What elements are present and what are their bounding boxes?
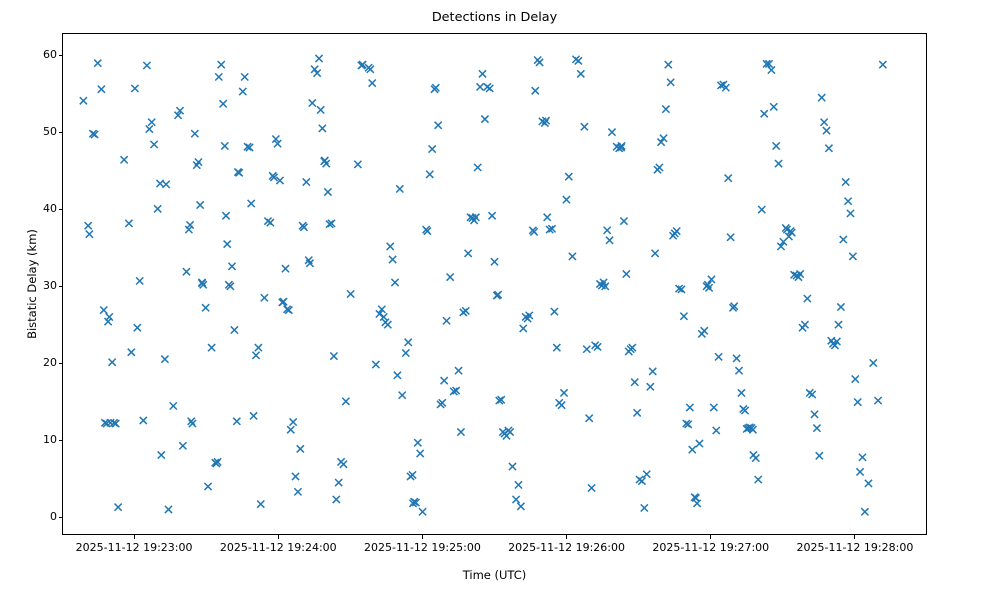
scatter-point bbox=[662, 106, 669, 113]
scatter-point bbox=[484, 83, 491, 90]
scatter-point bbox=[806, 389, 813, 396]
scatter-point bbox=[382, 319, 389, 326]
scatter-point bbox=[691, 494, 698, 501]
scatter-point bbox=[407, 473, 414, 480]
scatter-point bbox=[233, 418, 240, 425]
x-tick-mark bbox=[278, 535, 279, 539]
scatter-point bbox=[170, 402, 177, 409]
scatter-point bbox=[212, 459, 219, 466]
scatter-point bbox=[486, 85, 493, 92]
scatter-point bbox=[520, 325, 527, 332]
scatter-point bbox=[713, 427, 720, 434]
scatter-point bbox=[100, 306, 107, 313]
scatter-point bbox=[692, 494, 699, 501]
scatter-point bbox=[546, 226, 553, 233]
scatter-point bbox=[299, 222, 306, 229]
scatter-point bbox=[323, 160, 330, 167]
scatter-point bbox=[474, 164, 481, 171]
scatter-point bbox=[517, 503, 524, 510]
page-title: Detections in Delay bbox=[62, 10, 927, 25]
x-tick-mark bbox=[422, 535, 423, 539]
scatter-point bbox=[768, 66, 775, 73]
scatter-point bbox=[515, 481, 522, 488]
scatter-point bbox=[162, 181, 169, 188]
scatter-point bbox=[491, 258, 498, 265]
scatter-point bbox=[854, 399, 861, 406]
x-axis-label: Time (UTC) bbox=[62, 568, 927, 582]
scatter-point bbox=[282, 265, 289, 272]
x-tick-label: 2025-11-12 19:25:00 bbox=[342, 541, 502, 555]
scatter-point bbox=[234, 168, 241, 175]
scatter-point bbox=[198, 280, 205, 287]
scatter-point bbox=[104, 318, 111, 325]
scatter-point bbox=[643, 471, 650, 478]
scatter-point bbox=[703, 283, 710, 290]
scatter-point bbox=[429, 145, 436, 152]
scatter-point bbox=[103, 420, 110, 427]
y-tick-mark bbox=[59, 440, 63, 441]
scatter-point bbox=[402, 349, 409, 356]
scatter-point bbox=[749, 426, 756, 433]
scatter-point bbox=[186, 221, 193, 228]
scatter-point bbox=[649, 368, 656, 375]
scatter-point bbox=[671, 230, 678, 237]
scatter-point bbox=[154, 205, 161, 212]
x-tick-label: 2025-11-12 19:26:00 bbox=[487, 541, 647, 555]
scatter-point bbox=[189, 420, 196, 427]
scatter-point bbox=[437, 401, 444, 408]
scatter-point bbox=[705, 284, 712, 291]
scatter-point bbox=[493, 292, 500, 299]
scatter-point bbox=[842, 178, 849, 185]
scatter-point bbox=[870, 359, 877, 366]
y-tick-mark bbox=[59, 209, 63, 210]
scatter-point bbox=[652, 250, 659, 257]
scatter-point bbox=[509, 463, 516, 470]
scatter-point bbox=[378, 306, 385, 313]
scatter-plot-axes bbox=[62, 33, 927, 535]
scatter-point bbox=[365, 64, 372, 71]
scatter-point bbox=[793, 272, 800, 279]
scatter-point bbox=[455, 367, 462, 374]
y-tick-mark bbox=[59, 517, 63, 518]
scatter-point bbox=[727, 234, 734, 241]
scatter-point bbox=[359, 61, 366, 68]
scatter-point bbox=[565, 173, 572, 180]
scatter-point bbox=[787, 228, 794, 235]
scatter-point bbox=[813, 425, 820, 432]
scatter-point bbox=[131, 85, 138, 92]
scatter-point bbox=[198, 279, 205, 286]
y-tick-mark bbox=[59, 55, 63, 56]
scatter-point bbox=[683, 420, 690, 427]
scatter-point bbox=[816, 452, 823, 459]
scatter-point bbox=[330, 353, 337, 360]
scatter-point bbox=[558, 402, 565, 409]
scatter-point bbox=[600, 279, 607, 286]
scatter-point bbox=[680, 313, 687, 320]
scatter-point bbox=[280, 298, 287, 305]
scatter-point bbox=[110, 419, 117, 426]
scatter-point bbox=[539, 118, 546, 125]
scatter-point bbox=[542, 117, 549, 124]
scatter-point bbox=[443, 317, 450, 324]
scatter-point bbox=[294, 488, 301, 495]
scatter-point bbox=[228, 263, 235, 270]
scatter-point bbox=[140, 417, 147, 424]
scatter-point bbox=[200, 281, 207, 288]
scatter-point bbox=[856, 468, 863, 475]
scatter-point bbox=[534, 56, 541, 63]
scatter-point bbox=[656, 164, 663, 171]
scatter-point bbox=[496, 397, 503, 404]
scatter-point bbox=[765, 60, 772, 67]
scatter-point bbox=[276, 177, 283, 184]
scatter-point bbox=[432, 84, 439, 91]
scatter-point bbox=[536, 59, 543, 66]
scatter-point bbox=[733, 355, 740, 362]
scatter-point bbox=[750, 451, 757, 458]
scatter-point bbox=[833, 338, 840, 345]
scatter-point bbox=[667, 79, 674, 86]
scatter-point bbox=[592, 342, 599, 349]
scatter-point bbox=[128, 349, 135, 356]
scatter-point bbox=[795, 274, 802, 281]
x-tick-label: 2025-11-12 19:28:00 bbox=[775, 541, 935, 555]
scatter-point bbox=[441, 377, 448, 384]
scatter-point bbox=[279, 299, 286, 306]
scatter-point bbox=[89, 130, 96, 137]
scatter-point bbox=[297, 445, 304, 452]
scatter-point bbox=[269, 172, 276, 179]
scatter-point bbox=[387, 243, 394, 250]
scatter-point bbox=[389, 256, 396, 263]
scatter-point bbox=[801, 321, 808, 328]
scatter-point bbox=[148, 119, 155, 126]
scatter-point bbox=[775, 160, 782, 167]
scatter-point bbox=[625, 348, 632, 355]
scatter-point bbox=[80, 97, 87, 104]
scatter-point bbox=[861, 508, 868, 515]
x-tick-label: 2025-11-12 19:24:00 bbox=[198, 541, 358, 555]
scatter-point bbox=[462, 307, 469, 314]
scatter-point bbox=[431, 86, 438, 93]
scatter-point bbox=[287, 426, 294, 433]
scatter-point bbox=[847, 210, 854, 217]
scatter-point bbox=[594, 343, 601, 350]
scatter-point bbox=[710, 404, 717, 411]
x-tick-label: 2025-11-12 19:23:00 bbox=[54, 541, 214, 555]
scatter-point bbox=[326, 221, 333, 228]
scatter-point bbox=[685, 421, 692, 428]
scatter-point bbox=[409, 471, 416, 478]
scatter-point bbox=[250, 412, 257, 419]
scatter-point bbox=[825, 145, 832, 152]
scatter-point bbox=[185, 226, 192, 233]
scatter-point bbox=[755, 476, 762, 483]
scatter-point bbox=[740, 405, 747, 412]
scatter-point bbox=[225, 281, 232, 288]
scatter-point bbox=[107, 419, 114, 426]
scatter-point bbox=[604, 227, 611, 234]
scatter-point bbox=[722, 84, 729, 91]
scatter-point bbox=[498, 396, 505, 403]
scatter-point bbox=[529, 227, 536, 234]
scatter-point bbox=[665, 61, 672, 68]
scatter-point bbox=[777, 243, 784, 250]
scatter-point bbox=[729, 304, 736, 311]
scatter-point bbox=[261, 294, 268, 301]
scatter-point bbox=[176, 107, 183, 114]
scatter-point bbox=[725, 175, 732, 182]
scatter-point bbox=[292, 473, 299, 480]
scatter-point bbox=[865, 480, 872, 487]
scatter-point bbox=[183, 268, 190, 275]
scatter-point bbox=[746, 424, 753, 431]
scatter-point bbox=[840, 236, 847, 243]
scatter-point bbox=[618, 142, 625, 149]
y-tick-mark bbox=[59, 286, 63, 287]
scatter-point bbox=[763, 60, 770, 67]
scatter-point bbox=[828, 337, 835, 344]
scatter-point bbox=[85, 222, 92, 229]
scatter-point bbox=[284, 306, 291, 313]
scatter-point bbox=[636, 476, 643, 483]
scatter-point bbox=[472, 214, 479, 221]
scatter-point bbox=[358, 62, 365, 69]
scatter-point bbox=[859, 454, 866, 461]
scatter-point bbox=[112, 420, 119, 427]
scatter-point bbox=[481, 116, 488, 123]
scatter-point bbox=[213, 460, 220, 467]
scatter-point bbox=[255, 344, 262, 351]
scatter-point bbox=[252, 352, 259, 359]
scatter-point bbox=[319, 125, 326, 132]
scatter-point bbox=[708, 276, 715, 283]
scatter-point bbox=[405, 339, 412, 346]
scatter-point bbox=[215, 73, 222, 80]
scatter-point bbox=[354, 161, 361, 168]
scatter-point bbox=[634, 409, 641, 416]
scatter-point bbox=[788, 229, 795, 236]
scatter-point bbox=[86, 231, 93, 238]
scatter-point bbox=[829, 340, 836, 347]
scatter-point bbox=[748, 425, 755, 432]
scatter-point bbox=[465, 250, 472, 257]
scatter-point bbox=[647, 383, 654, 390]
scatter-point bbox=[689, 446, 696, 453]
scatter-point bbox=[701, 327, 708, 334]
scatter-point bbox=[673, 228, 680, 235]
scatter-point bbox=[340, 461, 347, 468]
scatter-point bbox=[606, 237, 613, 244]
scatter-point bbox=[821, 119, 828, 126]
scatter-point bbox=[372, 361, 379, 368]
scatter-point bbox=[501, 430, 508, 437]
scatter-point bbox=[770, 103, 777, 110]
scatter-point bbox=[290, 418, 297, 425]
scatter-point bbox=[693, 500, 700, 507]
scatter-point bbox=[696, 440, 703, 447]
scatter-point bbox=[328, 220, 335, 227]
scatter-point bbox=[274, 140, 281, 147]
scatter-point bbox=[195, 158, 202, 165]
scatter-point bbox=[741, 407, 748, 414]
scatter-point bbox=[315, 55, 322, 62]
scatter-point bbox=[752, 454, 759, 461]
scatter-point bbox=[583, 346, 590, 353]
scatter-point bbox=[125, 220, 132, 227]
scatter-point bbox=[257, 501, 264, 508]
scatter-point bbox=[627, 346, 634, 353]
scatter-point bbox=[424, 228, 431, 235]
scatter-point bbox=[831, 342, 838, 349]
scatter-point bbox=[477, 83, 484, 90]
scatter-point bbox=[311, 66, 318, 73]
scatter-point bbox=[204, 483, 211, 490]
scatter-point bbox=[658, 139, 665, 146]
y-tick-mark bbox=[59, 132, 63, 133]
scatter-point bbox=[151, 141, 158, 148]
scatter-point bbox=[202, 304, 209, 311]
scatter-point bbox=[309, 99, 316, 106]
scatter-point bbox=[799, 324, 806, 331]
scatter-point bbox=[270, 174, 277, 181]
scatter-point bbox=[384, 321, 391, 328]
scatter-point bbox=[837, 303, 844, 310]
scatter-point bbox=[569, 253, 576, 260]
scatter-point bbox=[321, 158, 328, 165]
scatter-point bbox=[457, 428, 464, 435]
scatter-point bbox=[347, 290, 354, 297]
scatter-point bbox=[780, 238, 787, 245]
scatter-point bbox=[146, 126, 153, 133]
scatter-point bbox=[791, 271, 798, 278]
scatter-point bbox=[553, 344, 560, 351]
scatter-point bbox=[222, 212, 229, 219]
scatter-point bbox=[337, 458, 344, 465]
scatter-point bbox=[782, 224, 789, 231]
scatter-point bbox=[197, 201, 204, 208]
scatter-point bbox=[577, 70, 584, 77]
scatter-point bbox=[620, 218, 627, 225]
scatter-point bbox=[581, 123, 588, 130]
scatter-point bbox=[575, 57, 582, 64]
scatter-point bbox=[541, 119, 548, 126]
scatter-point bbox=[423, 226, 430, 233]
scatter-point bbox=[738, 389, 745, 396]
scatter-point bbox=[367, 66, 374, 73]
scatter-point bbox=[629, 344, 636, 351]
scatter-point bbox=[588, 484, 595, 491]
scatter-point bbox=[818, 94, 825, 101]
scatter-point bbox=[174, 112, 181, 119]
scatter-point bbox=[272, 135, 279, 142]
scatter-point bbox=[631, 379, 638, 386]
scatter-point bbox=[715, 353, 722, 360]
scatter-point bbox=[447, 274, 454, 281]
scatter-point bbox=[598, 282, 605, 289]
scatter-point bbox=[399, 392, 406, 399]
scatter-point bbox=[453, 387, 460, 394]
scatter-point bbox=[305, 257, 312, 264]
scatter-point bbox=[285, 306, 292, 313]
scatter-point bbox=[409, 500, 416, 507]
scatter-point bbox=[720, 81, 727, 88]
scatter-point bbox=[414, 439, 421, 446]
scatter-point bbox=[506, 428, 513, 435]
scatter-point bbox=[783, 226, 790, 233]
scatter-point bbox=[512, 496, 519, 503]
scatter-point bbox=[376, 310, 383, 317]
scatter-point bbox=[686, 404, 693, 411]
scatter-point bbox=[849, 253, 856, 260]
scatter-point bbox=[613, 143, 620, 150]
scatter-point bbox=[396, 185, 403, 192]
scatter-point bbox=[532, 87, 539, 94]
scatter-point bbox=[158, 451, 165, 458]
scatter-point bbox=[136, 277, 143, 284]
scatter-point bbox=[563, 196, 570, 203]
scatter-point bbox=[115, 504, 122, 511]
scatter-point bbox=[300, 224, 307, 231]
scatter-point bbox=[602, 283, 609, 290]
scatter-point bbox=[321, 157, 328, 164]
scatter-point bbox=[608, 129, 615, 136]
scatter-point bbox=[544, 214, 551, 221]
scatter-point bbox=[191, 130, 198, 137]
scatter-point bbox=[560, 389, 567, 396]
x-tick-mark bbox=[134, 535, 135, 539]
scatter-point bbox=[239, 88, 246, 95]
scatter-point bbox=[179, 442, 186, 449]
scatter-point bbox=[236, 169, 243, 176]
scatter-point bbox=[758, 206, 765, 213]
scatter-point bbox=[551, 308, 558, 315]
scatter-point bbox=[654, 166, 661, 173]
scatter-point bbox=[214, 458, 221, 465]
scatter-point bbox=[342, 398, 349, 405]
scatter-point bbox=[522, 313, 529, 320]
scatter-point bbox=[208, 344, 215, 351]
scatter-point bbox=[193, 162, 200, 169]
scatter-point bbox=[524, 315, 531, 322]
scatter-point bbox=[844, 198, 851, 205]
scatter-point bbox=[623, 270, 630, 277]
scatter-point bbox=[471, 217, 478, 224]
x-tick-mark bbox=[710, 535, 711, 539]
scatter-point bbox=[717, 82, 724, 89]
scatter-point bbox=[317, 106, 324, 113]
scatter-point bbox=[324, 188, 331, 195]
scatter-point bbox=[246, 144, 253, 151]
y-axis-label: Bistatic Delay (km) bbox=[25, 33, 39, 535]
scatter-point bbox=[380, 313, 387, 320]
scatter-point bbox=[596, 280, 603, 287]
scatter-point bbox=[670, 232, 677, 239]
scatter-point bbox=[879, 61, 886, 68]
x-tick-mark bbox=[854, 535, 855, 539]
scatter-point bbox=[267, 219, 274, 226]
scatter-point bbox=[469, 214, 476, 221]
scatter-point bbox=[835, 321, 842, 328]
scatter-point bbox=[224, 241, 231, 248]
scatter-point bbox=[161, 356, 168, 363]
scatter-point bbox=[244, 143, 251, 150]
scatter-point bbox=[467, 214, 474, 221]
scatter-point bbox=[394, 372, 401, 379]
scatter-point bbox=[735, 367, 742, 374]
